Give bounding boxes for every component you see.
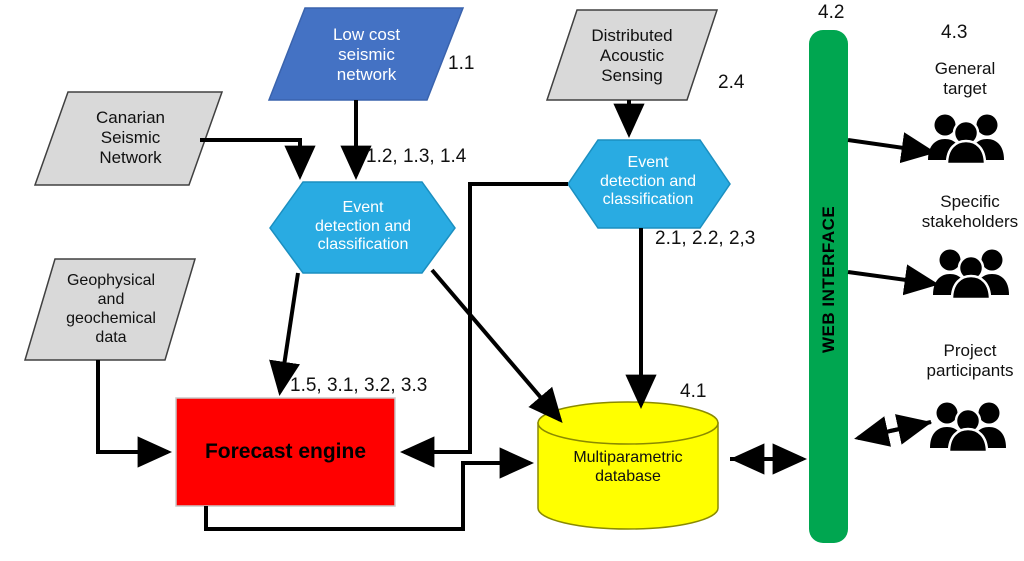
people-group-icon <box>927 400 1009 452</box>
text-line: Specific <box>940 192 1000 211</box>
shape-canarian-seismic-network <box>35 92 222 185</box>
people-group-icon <box>930 247 1012 299</box>
label-project-participants: Project participants <box>895 341 1024 382</box>
shape-database-top <box>538 402 718 444</box>
edge-hexleft-to-database <box>432 270 560 420</box>
tag-4-2: 4.2 <box>818 2 844 24</box>
tag-1-1: 1.1 <box>448 53 474 75</box>
edge-web-to-specific-stakeholders <box>848 272 935 284</box>
edge-geophysical-to-forecast <box>98 360 168 452</box>
shape-distributed-acoustic-sensing <box>547 10 717 100</box>
text-line: participants <box>927 361 1014 380</box>
shape-event-detection-left <box>270 182 455 273</box>
shape-geophysical-geochemical-data <box>25 259 195 360</box>
label-web-interface: WEB INTERFACE <box>819 223 839 353</box>
diagram-svg <box>0 0 1024 561</box>
edge-label-to-left-hexagon: 1.2, 1.3, 1.4 <box>366 146 466 168</box>
text-line: General <box>935 59 995 78</box>
text-line: stakeholders <box>922 212 1018 231</box>
people-group-icon <box>925 112 1007 164</box>
diagram-canvas: Low cost seismic network 1.1 Canarian Se… <box>0 0 1024 561</box>
tag-4-3: 4.3 <box>941 22 967 44</box>
edge-web-to-general-target <box>848 140 932 152</box>
label-specific-stakeholders: Specific stakeholders <box>895 192 1024 233</box>
text-line: Project <box>944 341 997 360</box>
tag-2-4: 2.4 <box>718 72 744 94</box>
shape-event-detection-right <box>568 140 730 228</box>
shape-forecast-engine <box>176 398 395 506</box>
edge-label-from-right-hexagon: 2.1, 2.2, 2,3 <box>655 228 755 250</box>
label-general-target: General target <box>890 59 1024 100</box>
edge-project-participants-to-web <box>858 423 928 438</box>
shape-low-cost-seismic-network <box>269 8 463 100</box>
text-line: target <box>943 79 986 98</box>
edge-canarian-to-hexleft <box>200 140 300 176</box>
tag-4-1: 4.1 <box>680 381 706 403</box>
edge-label-to-forecast-engine: 1.5, 3.1, 3.2, 3.3 <box>290 375 427 397</box>
